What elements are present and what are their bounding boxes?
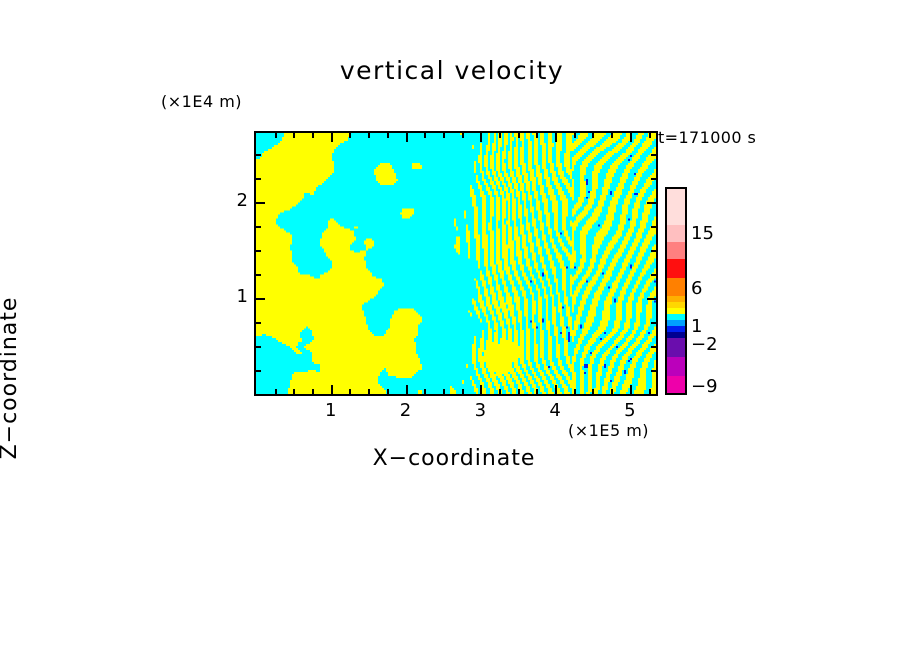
y-tick bbox=[651, 322, 656, 324]
colorbar bbox=[665, 187, 687, 395]
x-tick bbox=[480, 385, 482, 394]
colorbar-band bbox=[667, 278, 685, 296]
y-tick bbox=[256, 298, 265, 300]
x-tick bbox=[462, 133, 464, 138]
y-axis-unit-label: (×1E4 m) bbox=[161, 92, 242, 111]
x-tick bbox=[424, 133, 426, 138]
x-axis-unit-label: (×1E5 m) bbox=[568, 421, 649, 440]
y-tick bbox=[256, 202, 265, 204]
x-tick-label: 5 bbox=[610, 400, 650, 421]
y-tick bbox=[256, 226, 261, 228]
x-tick bbox=[518, 389, 520, 394]
x-tick bbox=[630, 385, 632, 394]
x-tick bbox=[406, 385, 408, 394]
y-axis-title: Z−coordinate bbox=[0, 168, 22, 588]
y-tick bbox=[647, 202, 656, 204]
x-tick bbox=[293, 133, 295, 138]
x-tick-label: 4 bbox=[535, 400, 575, 421]
x-tick bbox=[275, 133, 277, 138]
x-tick bbox=[630, 133, 632, 142]
y-tick bbox=[651, 346, 656, 348]
y-tick bbox=[651, 154, 656, 156]
x-tick bbox=[574, 133, 576, 138]
y-tick bbox=[651, 370, 656, 372]
x-tick bbox=[462, 389, 464, 394]
x-tick bbox=[536, 133, 538, 138]
y-tick bbox=[651, 226, 656, 228]
y-tick bbox=[256, 250, 261, 252]
colorbar-band bbox=[667, 357, 685, 376]
x-tick bbox=[443, 133, 445, 138]
x-tick bbox=[611, 133, 613, 138]
x-tick bbox=[555, 133, 557, 142]
x-tick bbox=[518, 133, 520, 138]
y-tick bbox=[256, 322, 261, 324]
x-tick bbox=[480, 133, 482, 142]
x-tick bbox=[349, 389, 351, 394]
y-tick-label: 2 bbox=[208, 190, 248, 211]
colorbar-band bbox=[667, 189, 685, 225]
x-tick bbox=[649, 389, 651, 394]
y-tick bbox=[256, 346, 261, 348]
y-tick-label: 1 bbox=[208, 286, 248, 307]
y-tick bbox=[651, 178, 656, 180]
x-tick-label: 2 bbox=[386, 400, 426, 421]
x-tick-label: 3 bbox=[460, 400, 500, 421]
colorbar-tick-label: 15 bbox=[691, 223, 714, 244]
x-tick bbox=[387, 389, 389, 394]
plot-panel bbox=[254, 131, 658, 396]
y-tick bbox=[256, 274, 261, 276]
x-tick bbox=[368, 389, 370, 394]
x-tick bbox=[555, 385, 557, 394]
x-tick bbox=[536, 389, 538, 394]
time-stamp-annotation: t=171000 s bbox=[658, 128, 756, 147]
colorbar-band bbox=[667, 242, 685, 259]
colorbar-band bbox=[667, 225, 685, 242]
y-tick bbox=[256, 154, 261, 156]
y-tick bbox=[651, 274, 656, 276]
x-tick bbox=[424, 389, 426, 394]
x-tick bbox=[387, 133, 389, 138]
page-title: vertical velocity bbox=[0, 56, 904, 85]
x-tick bbox=[592, 389, 594, 394]
x-tick-label: 1 bbox=[311, 400, 351, 421]
y-tick bbox=[651, 250, 656, 252]
colorbar-band bbox=[667, 376, 685, 393]
heatmap-field bbox=[256, 133, 656, 394]
x-tick bbox=[574, 389, 576, 394]
x-tick bbox=[611, 389, 613, 394]
x-tick bbox=[293, 389, 295, 394]
x-tick bbox=[331, 385, 333, 394]
x-tick bbox=[649, 133, 651, 138]
colorbar-tick-label: −9 bbox=[691, 376, 718, 397]
x-tick bbox=[499, 133, 501, 138]
colorbar-tick-label: −2 bbox=[691, 334, 718, 355]
x-tick bbox=[312, 389, 314, 394]
x-tick bbox=[312, 133, 314, 138]
x-tick bbox=[349, 133, 351, 138]
colorbar-tick-label: 6 bbox=[691, 278, 702, 299]
y-tick bbox=[647, 298, 656, 300]
x-axis-title: X−coordinate bbox=[254, 446, 654, 471]
x-tick bbox=[499, 389, 501, 394]
x-tick bbox=[592, 133, 594, 138]
x-tick bbox=[275, 389, 277, 394]
colorbar-band bbox=[667, 259, 685, 278]
x-tick bbox=[406, 133, 408, 142]
x-tick bbox=[331, 133, 333, 142]
x-tick bbox=[368, 133, 370, 138]
y-tick bbox=[256, 370, 261, 372]
figure-root: vertical velocity (×1E4 m) t=171000 s Z−… bbox=[0, 0, 904, 654]
x-tick bbox=[443, 389, 445, 394]
colorbar-band bbox=[667, 338, 685, 357]
y-tick bbox=[256, 178, 261, 180]
